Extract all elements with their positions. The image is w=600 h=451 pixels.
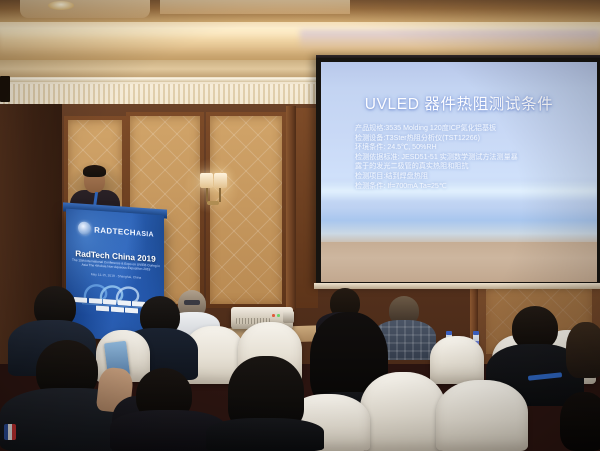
banquet-chair bbox=[430, 336, 484, 384]
slide-bottom-band bbox=[321, 242, 597, 282]
door-column bbox=[286, 106, 296, 310]
flag-patch-icon bbox=[4, 424, 16, 440]
slide-line: 检测条件: If=700mA Ta=25℃ bbox=[355, 182, 585, 192]
presenter-hair bbox=[83, 165, 106, 177]
slide-line: 环境条件: 24.5℃, 50%RH bbox=[355, 143, 585, 153]
projector-lens-icon bbox=[283, 311, 294, 323]
sponsor-logo bbox=[96, 305, 109, 311]
banquet-chair bbox=[436, 380, 528, 451]
audience-shoulders-front bbox=[206, 418, 324, 451]
cove-light-glow-purple bbox=[300, 30, 600, 50]
podium-brand-line2: ASIA bbox=[136, 230, 154, 238]
slide-line: 检测项目:结到焊盘热阻 bbox=[355, 172, 585, 182]
projector-status-led bbox=[272, 314, 275, 317]
podium-brand-line1: RADTECH bbox=[94, 225, 136, 237]
wall-speaker-icon bbox=[0, 76, 10, 102]
sponsor-logo bbox=[118, 300, 131, 306]
audience-long-hair-front bbox=[560, 392, 600, 451]
water-bottle-cap bbox=[473, 331, 479, 335]
ceiling-panel-center bbox=[160, 0, 350, 14]
audience-hair bbox=[566, 322, 600, 378]
slide-line: 露于的发光二极管的真实热阻和阻抗 bbox=[355, 162, 585, 172]
banquet-chair bbox=[360, 372, 446, 451]
sconce-shade-right-icon bbox=[214, 173, 227, 188]
sponsor-logo bbox=[125, 307, 138, 313]
water-bottle-cap bbox=[446, 331, 452, 335]
screen-bottom-bar bbox=[314, 283, 600, 289]
sconce-base bbox=[207, 201, 219, 205]
sponsor-logo bbox=[89, 298, 102, 304]
projector-power-led bbox=[277, 314, 280, 317]
presentation-slide: UVLED 器件热阻测试条件 产品规格:3535 Molding 120度ICP… bbox=[321, 62, 597, 282]
slide-title: UVLED 器件热阻测试条件 bbox=[321, 92, 597, 114]
sconce-shade-left-icon bbox=[200, 173, 213, 188]
sponsor-logo bbox=[103, 299, 116, 305]
slide-line: 检测设备:T3Ster热阻分析仪(TST12266) bbox=[355, 134, 585, 144]
sconce-arm bbox=[219, 188, 221, 202]
ceiling-lamp-icon bbox=[48, 1, 74, 10]
sunglasses-icon bbox=[184, 300, 200, 305]
slide-line: 检测依据标准: JESD51-51 实测数学测试方法测量暴 bbox=[355, 153, 585, 163]
sconce-arm bbox=[206, 188, 208, 202]
slide-body: 产品规格:3535 Molding 120度ICP氮化铝基板 检测设备:T3St… bbox=[355, 124, 585, 191]
slide-line: 产品规格:3535 Molding 120度ICP氮化铝基板 bbox=[355, 124, 585, 134]
conference-photo-scene: UVLED 器件热阻测试条件 产品规格:3535 Molding 120度ICP… bbox=[0, 0, 600, 451]
sponsor-logo bbox=[74, 297, 87, 303]
podium-brand: RADTECHASIA bbox=[94, 219, 154, 241]
ceiling-panel-left bbox=[20, 0, 150, 18]
radtech-seal-icon bbox=[78, 221, 91, 235]
sponsor-logo bbox=[111, 306, 124, 312]
